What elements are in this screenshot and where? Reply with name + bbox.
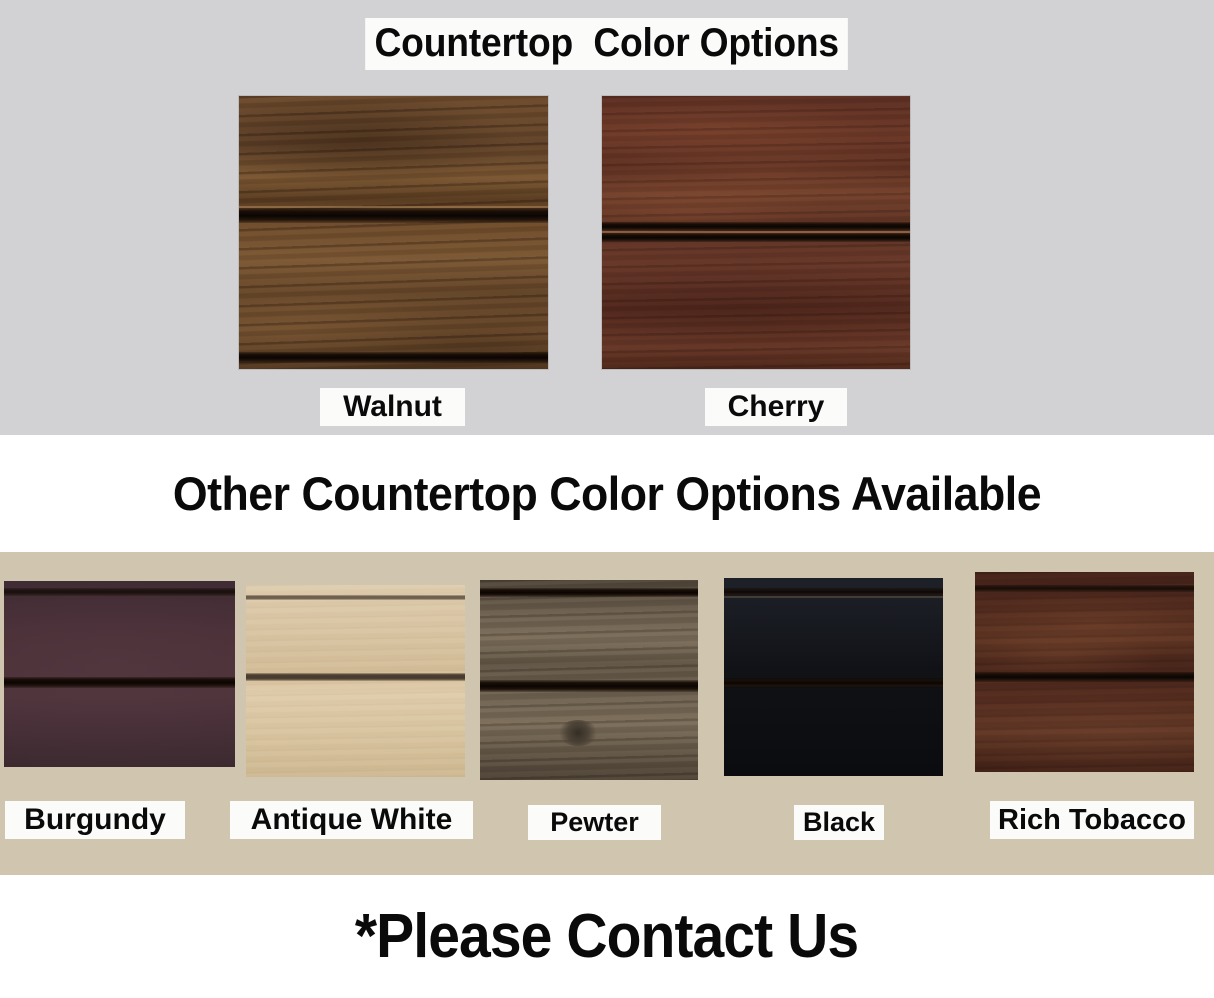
swatch-label-walnut: Walnut: [320, 388, 465, 426]
primary-options-panel: Countertop Color Options Walnut: [0, 0, 1214, 435]
swatch-burgundy[interactable]: [4, 581, 235, 767]
swatch-walnut[interactable]: [239, 96, 548, 369]
swatch-rich-tobacco[interactable]: [975, 572, 1194, 772]
secondary-heading: Other Countertop Color Options Available: [173, 470, 1041, 517]
swatch-black[interactable]: [724, 578, 943, 776]
contact-note: *Please Contact Us: [355, 906, 858, 968]
walnut-wood-texture: [239, 96, 548, 369]
swatch-label-black: Black: [794, 805, 884, 840]
page-title-band: Countertop Color Options: [0, 18, 1214, 70]
swatch-antique-white[interactable]: [246, 585, 465, 777]
board-groove: [602, 222, 910, 231]
board-groove-highlight: [239, 206, 548, 208]
swatch-label-burgundy: Burgundy: [5, 801, 185, 839]
page-title: Countertop Color Options: [365, 18, 848, 70]
countertop-color-options-page: Countertop Color Options Walnut: [0, 0, 1214, 998]
secondary-heading-band: Other Countertop Color Options Available: [0, 435, 1214, 552]
board-groove-top: [975, 585, 1194, 592]
contact-band: *Please Contact Us: [0, 875, 1214, 998]
board-groove: [724, 678, 943, 688]
swatch-label-pewter: Pewter: [528, 805, 661, 840]
swatch-cherry[interactable]: [602, 96, 910, 369]
board-groove-top: [4, 588, 235, 596]
board-groove-lower: [602, 233, 910, 242]
swatch-pewter[interactable]: [480, 580, 698, 780]
swatch-label-rich-tobacco: Rich Tobacco: [990, 801, 1194, 839]
board-groove-top: [480, 588, 698, 597]
board-groove: [975, 672, 1194, 682]
board-groove-highlight: [724, 596, 943, 598]
board-groove: [246, 673, 465, 681]
board-groove-top: [246, 595, 465, 600]
board-groove-lower: [239, 352, 548, 363]
board-groove: [239, 208, 548, 223]
board-groove-top: [724, 588, 943, 596]
swatch-label-antique-white: Antique White: [230, 801, 473, 839]
board-groove: [480, 680, 698, 692]
board-groove: [4, 677, 235, 688]
swatch-label-cherry: Cherry: [705, 388, 847, 426]
